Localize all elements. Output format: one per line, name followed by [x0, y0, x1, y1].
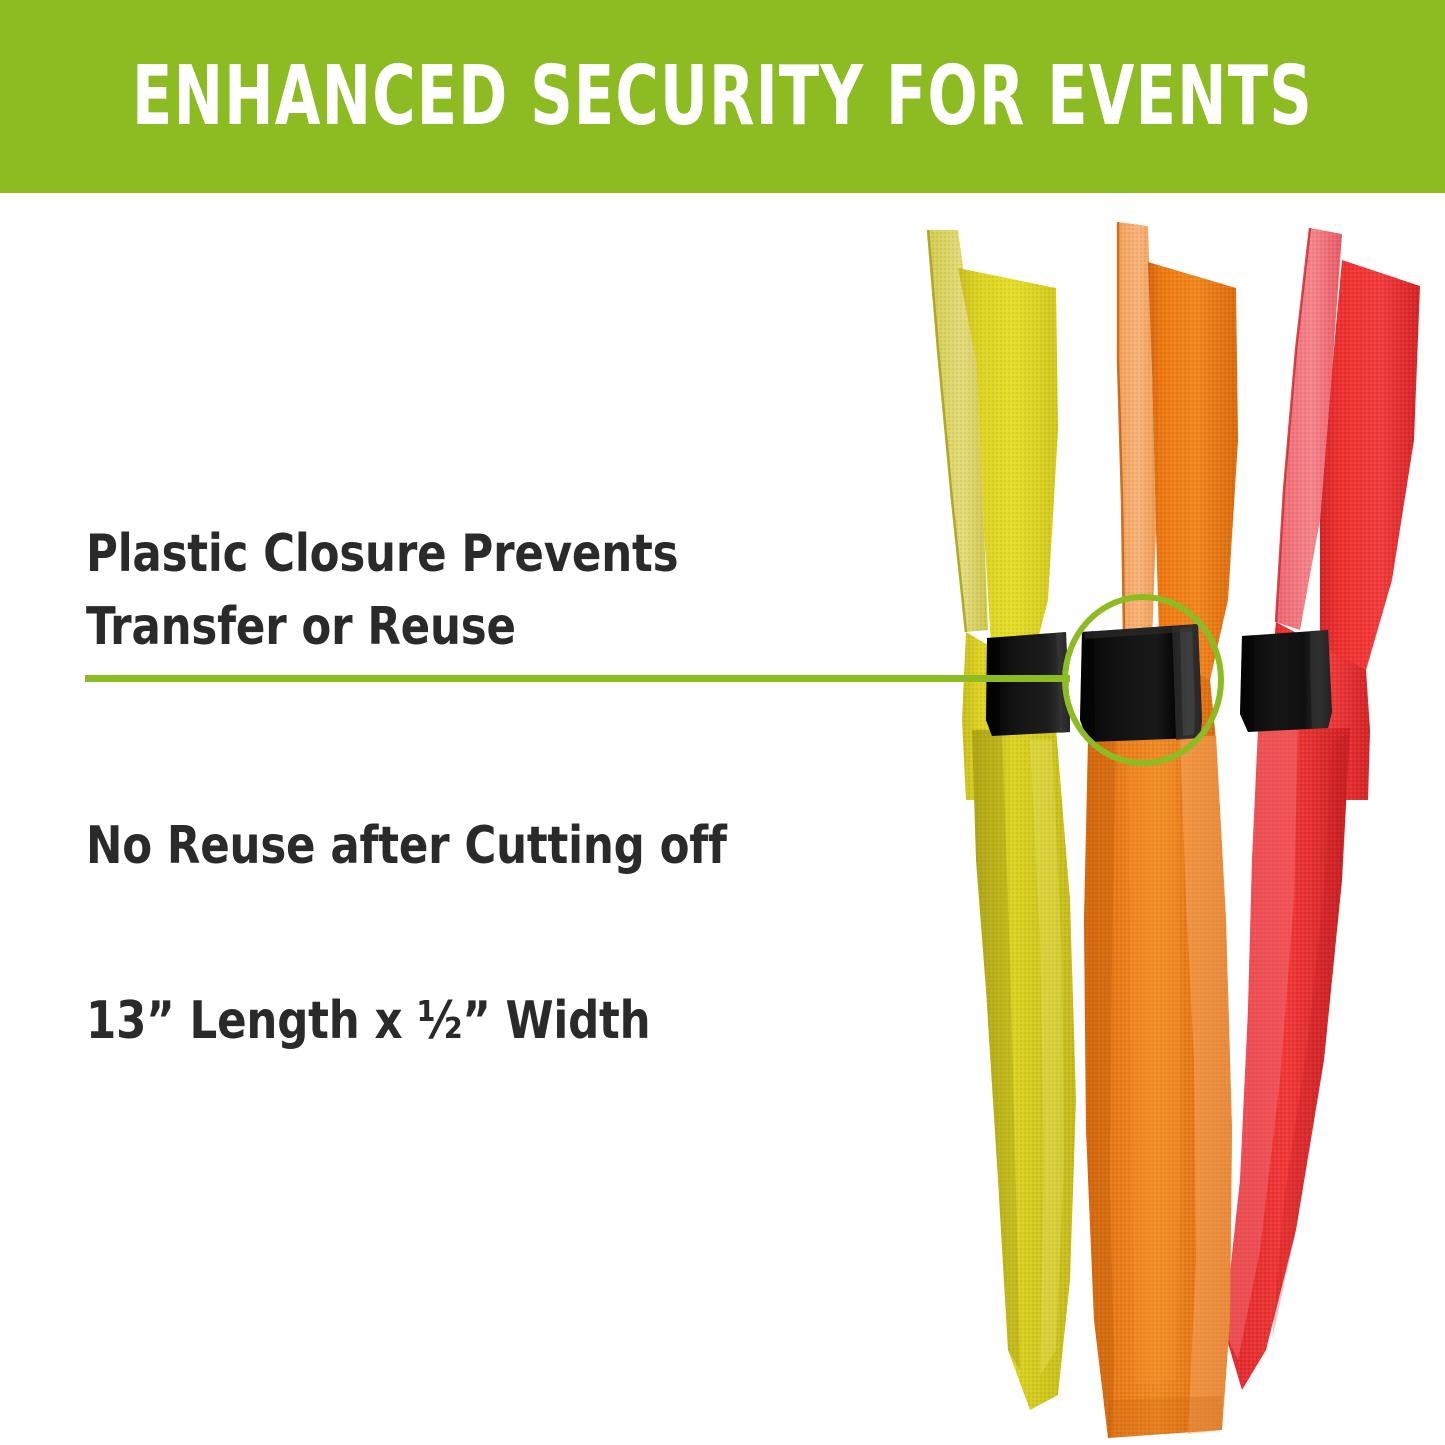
yellow-band-clip: [986, 632, 1070, 736]
infographic-page: ENHANCED SECURITY FOR EVENTS Plastic Clo…: [0, 0, 1445, 1445]
feature-text-no-reuse: No Reuse after Cutting off: [86, 810, 830, 883]
yellow-wristband: [928, 230, 1076, 1410]
feature-text-plastic-closure: Plastic Closure Prevents Transfer or Reu…: [86, 518, 793, 664]
red-band-clip: [1240, 630, 1332, 732]
callout-circle-plastic-closure: [1062, 594, 1224, 766]
feature-text-dimensions: 13” Length x ½” Width: [86, 985, 830, 1058]
red-wristband: [1224, 228, 1420, 1390]
header-banner: ENHANCED SECURITY FOR EVENTS: [0, 0, 1445, 193]
callout-pointer-line: [85, 675, 1070, 682]
product-photo-wristbands: [880, 200, 1445, 1445]
page-title: ENHANCED SECURITY FOR EVENTS: [145, 0, 1301, 193]
orange-wristband: [1084, 222, 1238, 1438]
